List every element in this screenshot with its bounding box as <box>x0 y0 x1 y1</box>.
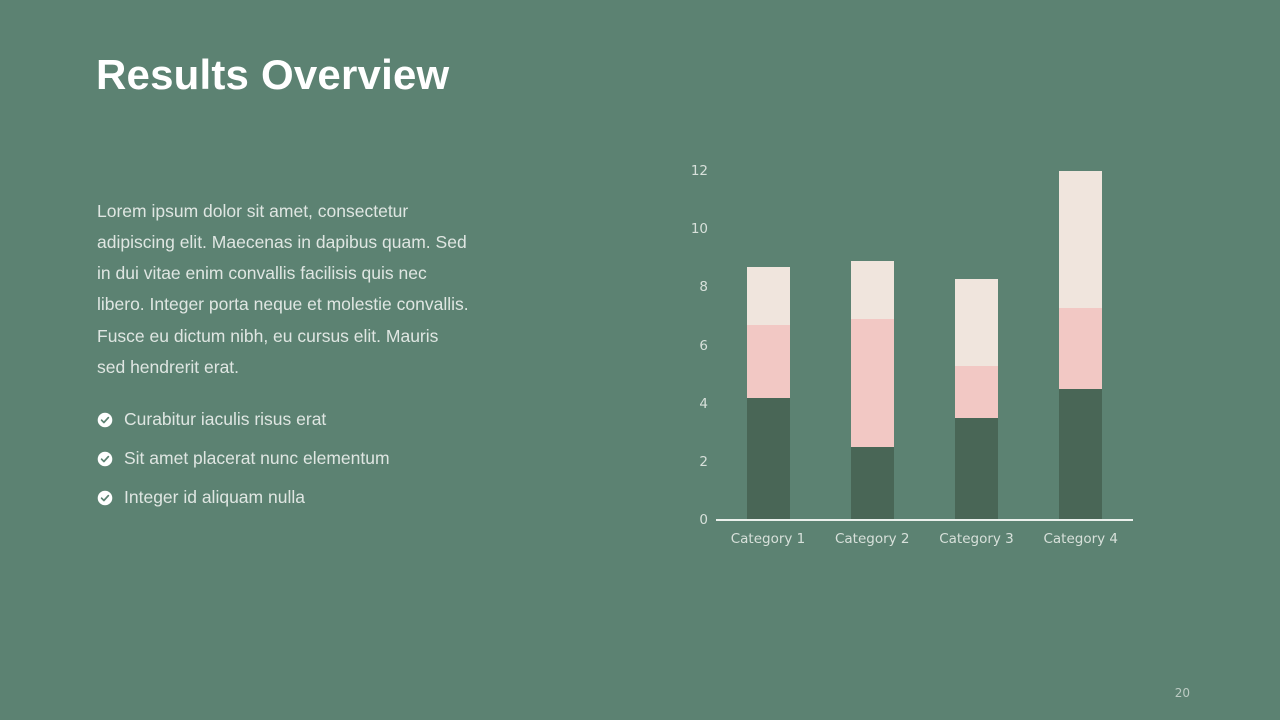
bar-stack[interactable] <box>851 171 894 520</box>
body-paragraph: Lorem ipsum dolor sit amet, consectetur … <box>97 196 469 383</box>
bar-segment[interactable] <box>747 325 790 398</box>
y-axis-tick-label: 6 <box>662 338 708 354</box>
stacked-bar-chart: 024681012 Category 1Category 2Category 3… <box>660 150 1160 560</box>
list-item-label: Sit amet placerat nunc elementum <box>124 450 390 468</box>
y-axis-tick-label: 8 <box>662 279 708 295</box>
page-title: Results Overview <box>96 52 449 98</box>
bar-segment[interactable] <box>851 447 894 520</box>
x-axis-tick-label: Category 3 <box>925 531 1029 547</box>
bar-segment[interactable] <box>955 418 998 520</box>
x-axis-tick-label: Category 4 <box>1029 531 1133 547</box>
check-circle-icon <box>97 451 113 467</box>
list-item-label: Curabitur iaculis risus erat <box>124 411 326 429</box>
bar-segment[interactable] <box>851 319 894 447</box>
bar-segment[interactable] <box>955 279 998 366</box>
x-axis-tick-label: Category 1 <box>716 531 820 547</box>
bar-stack[interactable] <box>747 171 790 520</box>
x-axis-tick-label: Category 2 <box>820 531 924 547</box>
check-circle-icon <box>97 490 113 506</box>
y-axis-tick-label: 4 <box>662 396 708 412</box>
bar-segment[interactable] <box>747 267 790 325</box>
page-number: 20 <box>1175 686 1190 700</box>
list-item: Curabitur iaculis risus erat <box>97 400 527 439</box>
bar-segment[interactable] <box>1059 308 1102 389</box>
list-item-label: Integer id aliquam nulla <box>124 489 305 507</box>
bar-segment[interactable] <box>1059 389 1102 520</box>
bar-segment[interactable] <box>851 261 894 319</box>
bar-segment[interactable] <box>1059 171 1102 308</box>
y-axis-tick-label: 0 <box>662 512 708 528</box>
slide: Results Overview Lorem ipsum dolor sit a… <box>0 0 1280 720</box>
y-axis-tick-label: 2 <box>662 454 708 470</box>
x-axis-line <box>716 519 1133 521</box>
y-axis-tick-label: 12 <box>662 163 708 179</box>
check-circle-icon <box>97 412 113 428</box>
y-axis: 024681012 <box>660 171 708 520</box>
bar-stack[interactable] <box>955 171 998 520</box>
list-item: Integer id aliquam nulla <box>97 478 527 517</box>
y-axis-tick-label: 10 <box>662 221 708 237</box>
plot-area <box>716 171 1133 520</box>
bar-segment[interactable] <box>955 366 998 418</box>
list-item: Sit amet placerat nunc elementum <box>97 439 527 478</box>
bullet-list: Curabitur iaculis risus eratSit amet pla… <box>97 400 527 517</box>
bar-stack[interactable] <box>1059 171 1102 520</box>
bar-segment[interactable] <box>747 398 790 520</box>
